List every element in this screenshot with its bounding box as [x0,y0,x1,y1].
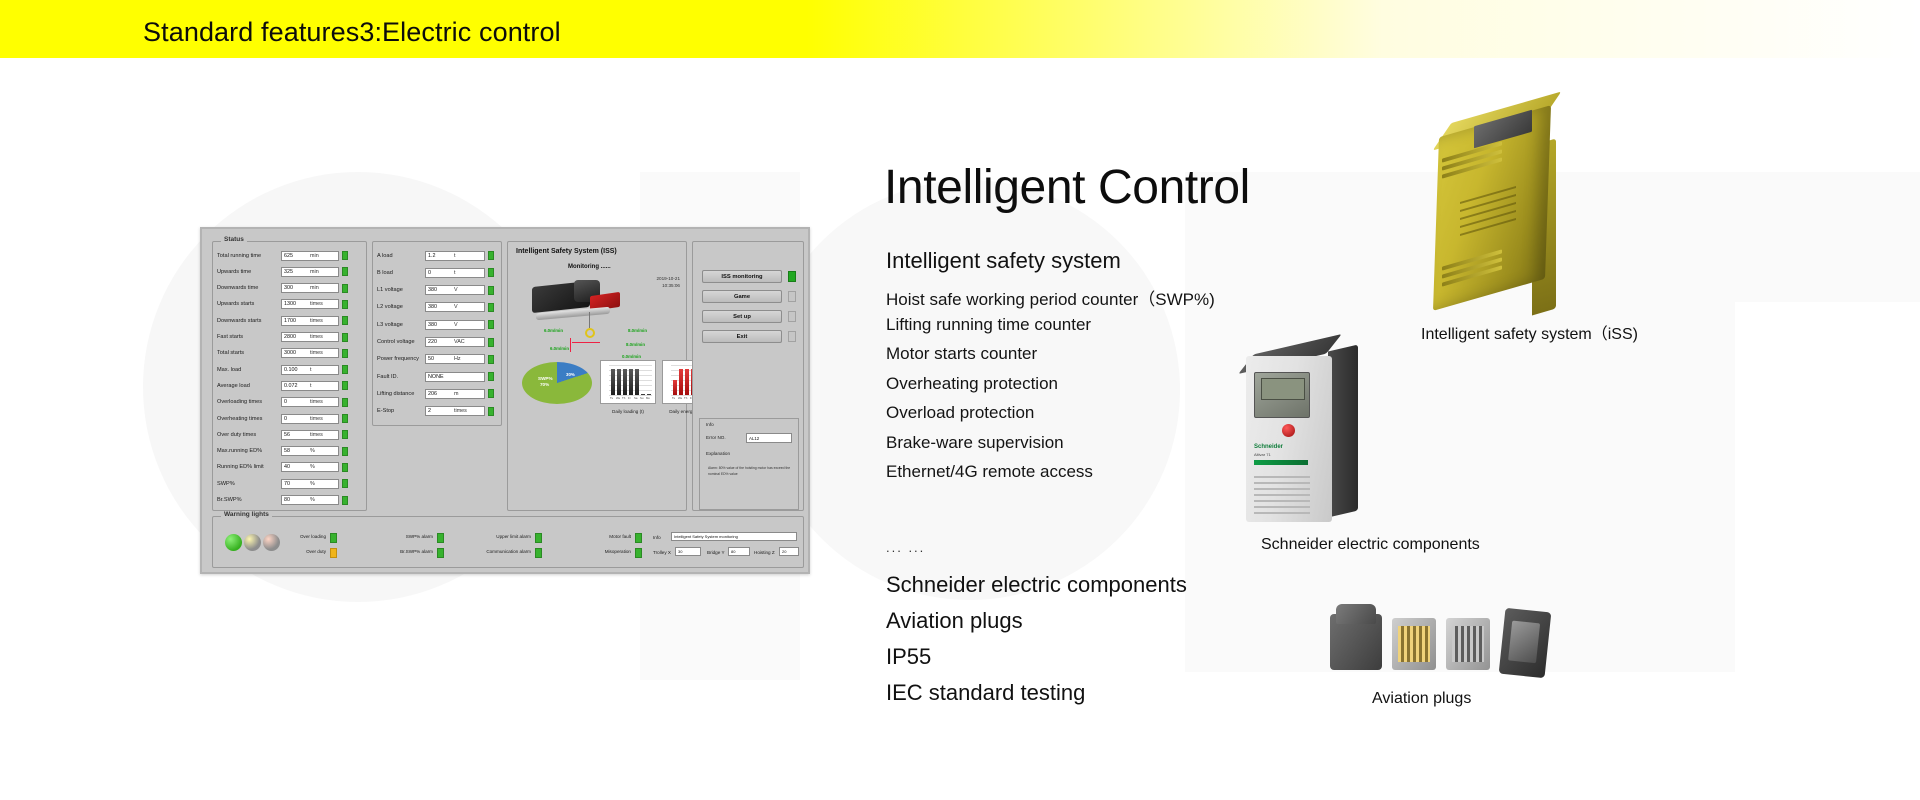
hmi-time: 10:35:06 [657,282,681,289]
bar [673,380,677,395]
status-row: Running ED% limit40% [217,461,363,474]
status-row-value: 0.072 [284,383,310,389]
error-no-label: Error NO. [706,435,726,440]
bar [679,369,683,395]
bar [685,369,689,395]
x-tick-label: We [678,396,682,400]
status-row-label: Overloading times [217,399,281,405]
bar [617,369,621,395]
status-row-field[interactable]: 2800times [281,332,339,342]
hmi-button-led [788,331,796,342]
status-row: Br.SWP%80% [217,494,363,507]
status-row-field[interactable]: 1700times [281,316,339,326]
status-row-field[interactable]: 300min [281,283,339,293]
status-row-label: Average load [217,383,281,389]
measurement-row-label: A load [377,253,425,259]
status-row-led [342,414,348,423]
speed-label-1: 8.0m/min [628,328,647,333]
status-row-led [342,398,348,407]
status-row-value: 70 [284,481,310,487]
schneider-caption: Schneider electric components [1261,536,1480,554]
arrow-vertical [570,338,571,352]
status-row-field[interactable]: 0.072t [281,381,339,391]
measurement-row-value: 206 [428,391,454,397]
schneider-drive-photo: Schneider Altivar 71 [1240,348,1370,530]
warning-item-label: Communication alarm [485,549,531,554]
hmi-button-led [788,291,796,302]
measurement-row-label: Control voltage [377,339,425,345]
status-row: Total starts3000times [217,347,363,360]
status-row-unit: times [310,301,323,307]
measurement-row-unit: t [454,270,456,276]
bar [623,369,627,395]
status-row-label: SWP% [217,481,281,487]
warning-item-label: Misoperation [585,549,631,554]
hmi-date: 2019-10-21 [657,275,681,282]
measurement-row: B load0t [377,266,499,279]
bar [647,394,651,395]
error-info-label: Info [706,422,714,427]
warning-item-label: Over duty [280,549,326,554]
status-row-field[interactable]: 0times [281,414,339,424]
feature-item: Lifting running time counter [886,315,1091,335]
warning-item-led [635,533,642,543]
status-row-value: 1300 [284,301,310,307]
status-row-value: 625 [284,253,310,259]
measurement-row-field[interactable]: 206m [425,389,485,399]
bridge-field[interactable]: 80 [728,547,750,556]
status-row-label: Downwards time [217,285,281,291]
warning-item-led [437,533,444,543]
status-row: Upwards time325min [217,265,363,278]
status-row-unit: times [310,432,323,438]
warning-item-label: Br.SWP% alarm [387,549,433,554]
status-row-value: 325 [284,269,310,275]
status-row-unit: % [310,481,315,487]
trolley-label: Trolley X [653,550,671,555]
status-row-value: 1700 [284,318,310,324]
status-row-field[interactable]: 3000times [281,348,339,358]
measurement-row: L3 voltage380V [377,318,499,331]
warn-info-label: Info [653,535,661,540]
status-row-field[interactable]: 80% [281,495,339,505]
trolley-field[interactable]: 30 [675,547,701,556]
highlight-item: IEC standard testing [886,680,1085,706]
x-tick-label: Su [640,396,643,400]
measurement-row-unit: V [454,287,458,293]
status-row-field[interactable]: 56times [281,430,339,440]
status-row-label: Upwards starts [217,301,281,307]
iss-module-photo [1420,108,1570,308]
measurement-row-unit: VAC [454,339,465,345]
status-row: SWP%70% [217,477,363,490]
measurement-row-label: L2 voltage [377,304,425,310]
status-row-label: Overheating times [217,416,281,422]
measurement-row: Control voltage220VAC [377,336,499,349]
x-tick-label: Mo [646,396,650,400]
status-row-unit: times [310,416,323,422]
speed-label-2: 8.0m/min [626,342,645,347]
status-row-label: Total running time [217,253,281,259]
feature-item: Overheating protection [886,374,1058,394]
warning-item-led [535,548,542,558]
measurement-row: Lifting distance206m [377,387,499,400]
hmi-button[interactable]: Exit [702,330,782,343]
x-tick-label: Tu [672,396,675,400]
measurement-row-led [488,320,494,329]
measurement-row-value: 220 [428,339,454,345]
measurement-row-unit: times [454,408,467,414]
status-row-unit: min [310,269,319,275]
status-row-field[interactable]: 1300times [281,299,339,309]
header-banner: Standard features3:Electric control [0,0,1920,58]
bar [641,394,645,395]
warning-item-label: SWP% alarm [387,534,433,539]
status-row-led [342,365,348,374]
status-row-label: Downwards starts [217,318,281,324]
status-row-unit: times [310,350,323,356]
x-tick-label: We [616,396,620,400]
swp-pie-chart: SWP% 70% 30% [522,362,592,410]
hoist-illustration [532,278,624,326]
daily-loading-chart: TuWeThFrSaSuMo Daily loading (t) [600,360,656,404]
gridline [609,365,652,366]
speed-label-4: 6.0m/min [550,346,569,351]
measurement-row-unit: m [454,391,459,397]
measurement-row-value: NONE [428,374,454,380]
measurement-row-led [488,303,494,312]
status-row-unit: times [310,334,323,340]
hmi-status-group-label: Status [221,236,247,243]
lamp-green [225,534,242,551]
measurement-row-value: 50 [428,356,454,362]
hmi-button[interactable]: Game [702,290,782,303]
hmi-error-panel: Info Error NO. AL12 Explanation Alarm: 8… [699,418,799,510]
status-row-led [342,381,348,390]
speed-label-3: 0.0m/min [622,354,641,359]
measurement-row-label: B load [377,270,425,276]
measurement-row-value: 2 [428,408,454,414]
status-row-unit: % [310,448,315,454]
bar [611,369,615,395]
status-row-value: 2800 [284,334,310,340]
warning-item-led [535,533,542,543]
arrow-horizontal [572,342,600,343]
daily-loading-caption: Daily loading (t) [601,409,655,414]
status-row-value: 300 [284,285,310,291]
status-row-led [342,349,348,358]
status-row-led [342,251,348,260]
status-row-label: Br.SWP% [217,497,281,503]
x-tick-label: Fr [628,396,631,400]
status-row: Overloading times0times [217,396,363,409]
headline: Intelligent Control [884,160,1250,215]
measurement-row-unit: t [454,253,456,259]
explanation-text: Alarm: 80% value of the hoisting motor h… [708,465,794,477]
status-row: Average load0.072t [217,379,363,392]
hook-illustration [582,328,598,346]
status-row-led [342,479,348,488]
hmi-button[interactable]: Set up [702,310,782,323]
measurement-row-field[interactable]: 380V [425,302,485,312]
measurement-row-label: Fault ID. [377,374,425,380]
status-row-value: 80 [284,497,310,503]
status-row-label: Upwards time [217,269,281,275]
status-row: Downwards time300min [217,282,363,295]
status-row-led [342,447,348,456]
measurement-row-label: E-Stop [377,408,425,414]
status-row-led [342,463,348,472]
status-row-value: 0 [284,416,310,422]
measurement-row-led [488,389,494,398]
pie-label-swp: SWP% [538,376,553,381]
status-row-field[interactable]: 58% [281,446,339,456]
status-row: Max.running ED%58% [217,445,363,458]
measurement-row-value: 380 [428,322,454,328]
hmi-screenshot-panel: Status Total running time625minUpwards t… [200,227,810,574]
status-row-unit: min [310,285,319,291]
highlight-item: Schneider electric components [886,572,1187,598]
lamp-red-off [263,534,280,551]
status-row-led [342,267,348,276]
x-tick-label: Th [622,396,625,400]
status-row-led [342,300,348,309]
measurement-row-field[interactable]: 0t [425,268,485,278]
lamp-amber-off [244,534,261,551]
status-row-field[interactable]: 70% [281,479,339,489]
status-row: Fast starts2800times [217,331,363,344]
hmi-button-group: ISS monitoringGameSet upExit Info Error … [692,241,804,511]
measurement-row-field[interactable]: 220VAC [425,337,485,347]
measurement-row-unit: Hz [454,356,461,362]
warn-info-field[interactable]: Intelligent Safety System monitoring [671,532,797,541]
status-row-field[interactable]: 0times [281,397,339,407]
status-row-label: Max.running ED% [217,448,281,454]
status-row-led [342,284,348,293]
status-row: Over duty times56times [217,428,363,441]
bar [629,369,633,395]
status-row-unit: times [310,318,323,324]
status-row-led [342,496,348,505]
status-row: Total running time625min [217,249,363,262]
warning-item-led [437,548,444,558]
hoisting-field[interactable]: 20 [779,547,799,556]
hoisting-label: Hoisting Z [754,550,775,555]
status-row-value: 40 [284,464,310,470]
status-row-field[interactable]: 40% [281,462,339,472]
measurement-row-label: L3 voltage [377,322,425,328]
iss-caption: Intelligent safety system（iSS) [1421,320,1638,344]
feature-item: Ethernet/4G remote access [886,462,1093,482]
hmi-measurement-group: A load1.2tB load0tL1 voltage380VL2 volta… [372,241,502,426]
bridge-label: Bridge Y [707,550,725,555]
measurement-row-value: 380 [428,304,454,310]
status-row-unit: t [310,367,312,373]
status-row-led [342,333,348,342]
speed-label-0: 6.0m/min [544,328,563,333]
status-row-led [342,316,348,325]
measurement-row: E-Stop2times [377,405,499,418]
hmi-warning-group: Warning lights Over loadingOver dutySWP%… [212,516,804,568]
measurement-row-value: 1.2 [428,253,454,259]
warning-item-led [635,548,642,558]
measurement-row-label: Power frequency [377,356,425,362]
warning-item-led [330,533,337,543]
measurement-row-field[interactable]: 1.2t [425,251,485,261]
status-row-value: 3000 [284,350,310,356]
feature-item: Brake-ware supervision [886,433,1064,453]
ellipsis-marker: ... ... [886,540,925,555]
measurement-row-field[interactable]: 380V [425,285,485,295]
status-row-label: Total starts [217,350,281,356]
subheading: Intelligent safety system [886,248,1121,274]
highlight-item: Aviation plugs [886,608,1023,634]
status-row-unit: % [310,497,315,503]
measurement-row: L2 voltage380V [377,301,499,314]
status-row-value: 56 [284,432,310,438]
hmi-title: Intelligent Safety System (ISS) [516,248,617,255]
measurement-row-led [488,251,494,260]
measurement-row-led [488,407,494,416]
status-row-label: Max. load [217,367,281,373]
status-row-label: Running ED% limit [217,464,281,470]
explanation-label: Explanation [706,451,730,456]
plugs-caption: Aviation plugs [1372,690,1471,708]
measurement-row-led [488,355,494,364]
warning-group-label: Warning lights [221,511,272,518]
status-row-unit: min [310,253,319,259]
status-row-unit: t [310,383,312,389]
error-no-field[interactable]: AL12 [746,433,792,443]
warning-item-led [330,548,337,558]
hmi-subtitle: Monitoring ...... [568,264,611,270]
measurement-row-field[interactable]: 2times [425,406,485,416]
measurement-row: A load1.2t [377,249,499,262]
hmi-monitoring-group: Intelligent Safety System (ISS) Monitori… [507,241,687,511]
status-row: Upwards starts1300times [217,298,363,311]
feature-item: Hoist safe working period counter（SWP%) [886,285,1215,310]
warning-item-label: Over loading [280,534,326,539]
warning-item-label: Upper limit alarm [485,534,531,539]
measurement-row-value: 380 [428,287,454,293]
status-row-field[interactable]: 0.100t [281,365,339,375]
status-row-field[interactable]: 625min [281,251,339,261]
hmi-button-led [788,311,796,322]
measurement-row-led [488,338,494,347]
status-row-value: 58 [284,448,310,454]
measurement-row: L1 voltage380V [377,284,499,297]
hmi-button[interactable]: ISS monitoring [702,270,782,283]
measurement-row-unit: V [454,304,458,310]
measurement-row-label: L1 voltage [377,287,425,293]
status-row-label: Over duty times [217,432,281,438]
measurement-row-value: 0 [428,270,454,276]
status-row-unit: % [310,464,315,470]
status-row-led [342,430,348,439]
status-row-label: Fast starts [217,334,281,340]
measurement-row-label: Lifting distance [377,391,425,397]
feature-item: Motor starts counter [886,344,1037,364]
pie-label-val: 70% [540,382,549,387]
measurement-row-led [488,372,494,381]
measurement-row: Power frequency50Hz [377,353,499,366]
hmi-status-group: Status Total running time625minUpwards t… [212,241,367,511]
x-tick-label: Tu [610,396,613,400]
measurement-row-field[interactable]: NONE [425,372,485,382]
hmi-datetime: 2019-10-21 10:35:06 [657,275,681,289]
status-row-value: 0 [284,399,310,405]
aviation-plugs-photo [1330,600,1590,690]
status-row-unit: times [310,399,323,405]
page-title: Standard features3:Electric control [143,17,561,48]
bar [635,369,639,395]
feature-item: Overload protection [886,403,1034,423]
status-row-field[interactable]: 325min [281,267,339,277]
measurement-row-unit: V [454,322,458,328]
status-row: Max. load0.100t [217,363,363,376]
pie-label-rest: 30% [566,372,575,377]
x-tick-label: Th [684,396,687,400]
hmi-button-led [788,271,796,282]
status-row: Downwards starts1700times [217,314,363,327]
measurement-row: Fault ID.NONE [377,370,499,383]
x-tick-label: Sa [634,396,637,400]
warning-item-label: Motor fault [585,534,631,539]
measurement-row-led [488,268,494,277]
status-row-value: 0.100 [284,367,310,373]
measurement-row-field[interactable]: 50Hz [425,354,485,364]
status-row: Overheating times0times [217,412,363,425]
highlight-item: IP55 [886,644,931,670]
measurement-row-led [488,286,494,295]
measurement-row-field[interactable]: 380V [425,320,485,330]
